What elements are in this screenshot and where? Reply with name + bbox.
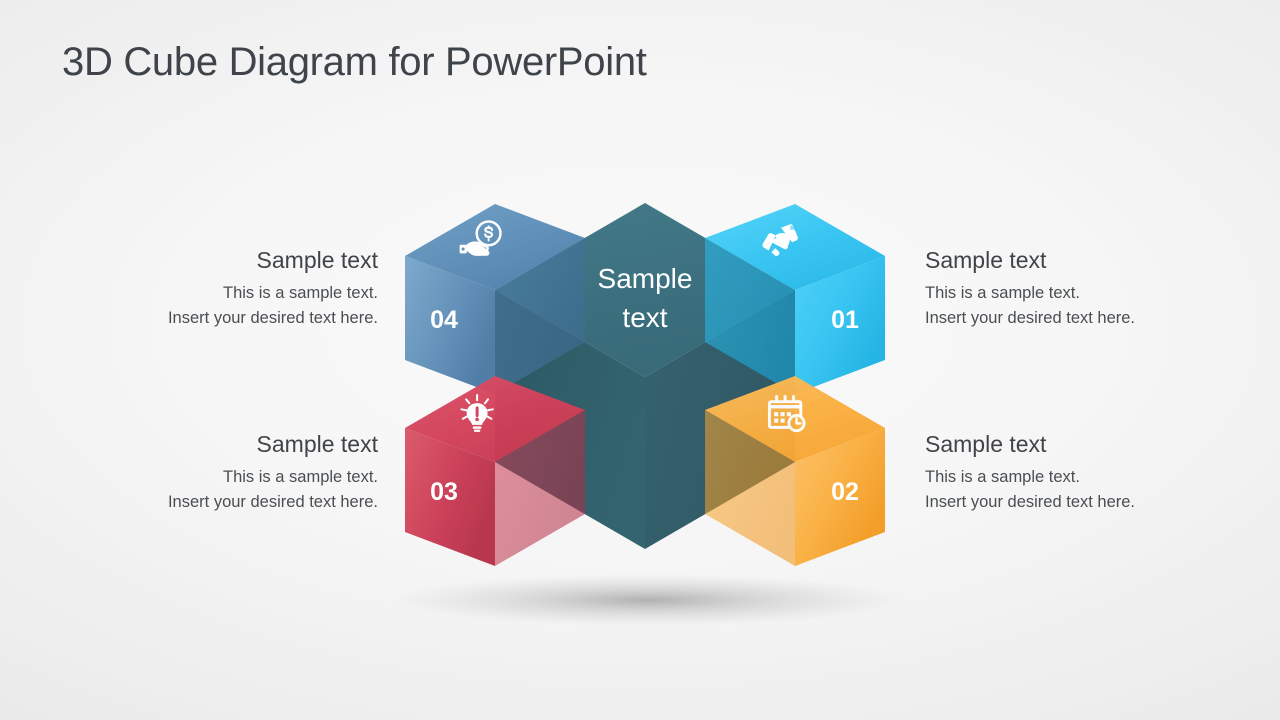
text-block-01: Sample text This is a sample text. Inser… — [925, 247, 1225, 332]
cube-03-number: 03 — [430, 478, 458, 506]
text-block-04: Sample text This is a sample text. Inser… — [78, 247, 378, 332]
center-cube[interactable]: Sample text — [495, 203, 795, 549]
cube-04-top-face — [405, 204, 585, 290]
text-block-02-line2: Insert your desired text here. — [925, 490, 1225, 516]
text-block-03-heading: Sample text — [78, 431, 378, 459]
text-block-03-line2: Insert your desired text here. — [78, 490, 378, 516]
center-cube-top-face — [495, 203, 795, 377]
cube-02-right-face — [795, 428, 885, 566]
center-cube-left-face — [495, 290, 645, 549]
ground-shadow — [393, 574, 903, 626]
cube-03-right-face — [495, 410, 585, 566]
text-block-02-line1: This is a sample text. — [925, 465, 1225, 491]
cube-01-top-face — [705, 204, 885, 290]
center-cube-label-line1: Sample — [598, 263, 693, 294]
cube-03-left-face — [405, 428, 495, 566]
cube-02-top-face — [705, 376, 885, 462]
cube-03-top-face — [405, 376, 585, 462]
cube-04-number: 04 — [430, 306, 458, 334]
cube-03[interactable]: 03 — [405, 376, 585, 566]
center-cube-right-face — [645, 290, 795, 549]
cube-02-left-face — [705, 410, 795, 566]
text-block-03-line1: This is a sample text. — [78, 465, 378, 491]
page-title: 3D Cube Diagram for PowerPoint — [62, 40, 647, 85]
text-block-01-line1: This is a sample text. — [925, 281, 1225, 307]
calendar-clock-icon — [769, 395, 805, 432]
lightbulb-alert-icon — [461, 395, 492, 432]
hand-coin-icon — [460, 222, 501, 256]
center-cube-label-line2: text — [622, 302, 667, 333]
cube-04-left-face — [405, 256, 495, 394]
text-block-02: Sample text This is a sample text. Inser… — [925, 431, 1225, 516]
text-block-01-line2: Insert your desired text here. — [925, 306, 1225, 332]
text-block-03: Sample text This is a sample text. Inser… — [78, 431, 378, 516]
cube-01[interactable]: 01 — [705, 204, 885, 394]
cube-diagram: Sample text 04 — [0, 0, 1280, 720]
cube-01-right-face — [795, 256, 885, 394]
cube-04[interactable]: 04 — [405, 204, 585, 394]
cube-02[interactable]: 02 — [705, 376, 885, 566]
text-block-04-line2: Insert your desired text here. — [78, 306, 378, 332]
cube-04-right-face — [495, 238, 585, 394]
cube-01-number: 01 — [831, 306, 859, 334]
text-block-02-heading: Sample text — [925, 431, 1225, 459]
handshake-icon — [762, 224, 797, 256]
cube-01-left-face — [705, 238, 795, 394]
text-block-04-heading: Sample text — [78, 247, 378, 275]
text-block-04-line1: This is a sample text. — [78, 281, 378, 307]
text-block-01-heading: Sample text — [925, 247, 1225, 275]
cube-02-number: 02 — [831, 478, 859, 506]
